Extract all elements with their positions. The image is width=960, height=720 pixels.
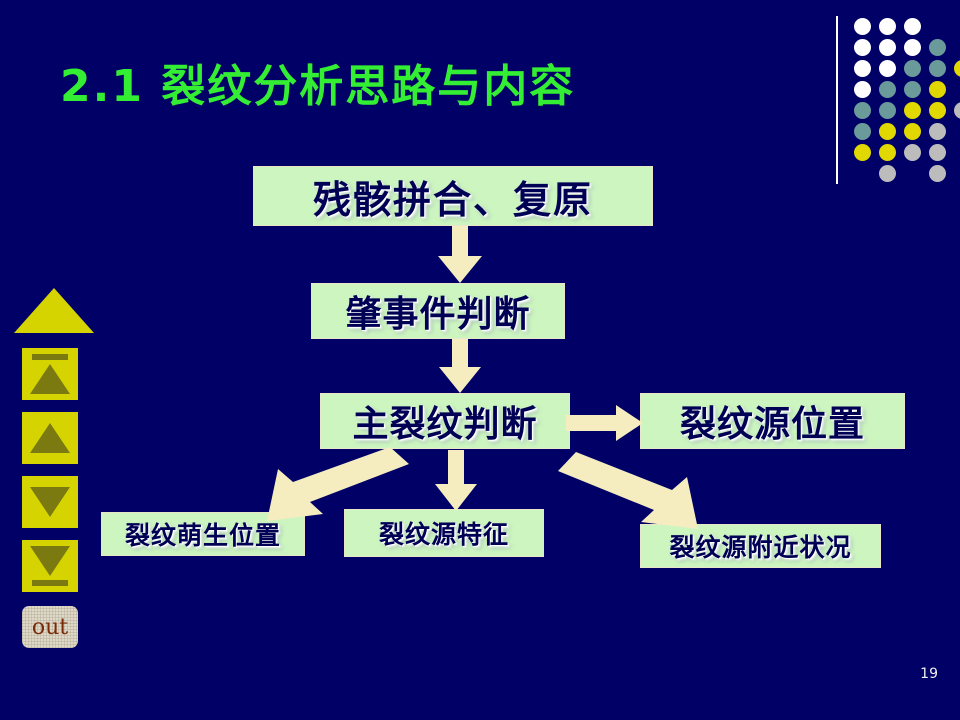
arrow-right-1	[566, 403, 644, 443]
up-triangle-icon	[30, 364, 70, 394]
flow-box-main-crack-judgement: 主裂纹判断	[320, 393, 570, 449]
decorative-dot	[929, 60, 946, 77]
nav-last-slide-button[interactable]	[22, 540, 78, 592]
decorative-dot	[929, 81, 946, 98]
decorative-dot	[904, 39, 921, 56]
decorative-dot	[879, 81, 896, 98]
decorative-dot	[954, 60, 960, 77]
decorative-dot	[854, 39, 871, 56]
flow-box-crack-source-position: 裂纹源位置	[640, 393, 905, 449]
large-up-triangle-icon[interactable]	[14, 288, 94, 333]
decorative-dot	[929, 39, 946, 56]
down-triangle-icon	[30, 487, 70, 517]
decorative-dot	[879, 144, 896, 161]
nav-next-slide-button[interactable]	[22, 476, 78, 528]
decorative-dot	[929, 123, 946, 140]
down-triangle-icon	[30, 546, 70, 576]
flow-box-incident-judgement: 肇事件判断	[311, 283, 565, 339]
decorative-dot	[904, 144, 921, 161]
nav-first-slide-button[interactable]	[22, 348, 78, 400]
flow-box-label: 主裂纹判断	[352, 395, 537, 447]
decorative-dot	[904, 102, 921, 119]
arrow-down-right	[554, 452, 704, 532]
arrow-down-left	[262, 447, 412, 523]
decorative-dot	[879, 102, 896, 119]
decorative-dot	[854, 81, 871, 98]
page-number: 19	[920, 666, 938, 682]
decorative-dot	[879, 165, 896, 182]
flow-box-label: 裂纹源位置	[680, 395, 865, 447]
decorative-dot	[879, 39, 896, 56]
decorative-dot	[929, 165, 946, 182]
arrow-down-3	[430, 450, 482, 512]
flow-box-label: 裂纹萌生位置	[125, 516, 281, 552]
decorative-dot	[854, 60, 871, 77]
flow-box-label: 肇事件判断	[345, 285, 530, 337]
decorative-dot	[854, 144, 871, 161]
arrow-down-1	[432, 226, 488, 284]
up-triangle-icon	[30, 423, 70, 453]
flow-box-debris-assembly: 残骸拼合、复原	[253, 166, 653, 226]
slide-canvas: 2.1 裂纹分析思路与内容 残骸拼合、复原 肇事件判断 主裂纹判断 裂纹源位置 …	[0, 0, 960, 720]
flow-box-label: 裂纹源附近状况	[669, 528, 851, 564]
decorative-dot	[904, 18, 921, 35]
decorative-dot	[904, 123, 921, 140]
flow-box-label: 残骸拼合、复原	[313, 169, 593, 224]
decorative-dot	[929, 102, 946, 119]
decorative-dot	[879, 18, 896, 35]
decorative-dot	[879, 123, 896, 140]
exit-button[interactable]: out	[22, 606, 78, 648]
decorative-dot	[854, 102, 871, 119]
decorative-dot	[904, 60, 921, 77]
decorative-dot	[954, 102, 960, 119]
decorative-dot-grid	[836, 8, 960, 178]
exit-button-label: out	[32, 615, 68, 640]
bar-icon	[32, 354, 68, 360]
arrow-down-2	[434, 339, 486, 394]
decorative-dot	[854, 18, 871, 35]
bar-icon	[32, 580, 68, 586]
decorative-dot	[879, 60, 896, 77]
page-title: 2.1 裂纹分析思路与内容	[60, 50, 575, 114]
decorative-dot	[929, 144, 946, 161]
nav-previous-slide-button[interactable]	[22, 412, 78, 464]
decorative-dot	[854, 123, 871, 140]
decorative-dot	[904, 81, 921, 98]
vertical-rule	[836, 16, 838, 184]
